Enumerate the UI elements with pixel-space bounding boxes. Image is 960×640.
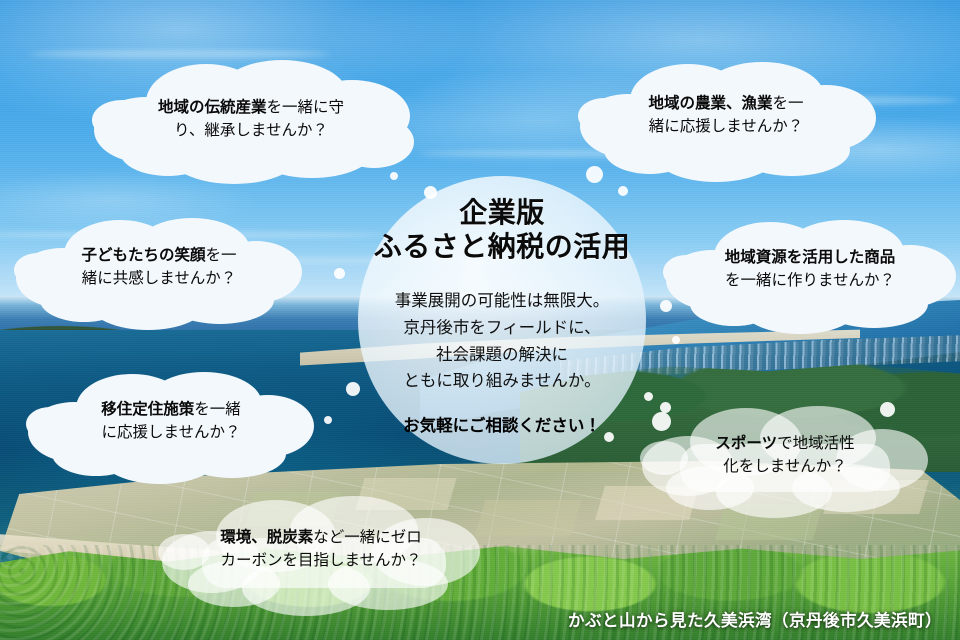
bubble-traditional-industry[interactable]: 地域の伝統産業を一緒に守 り、継承しませんか？ <box>86 58 416 176</box>
bubble-text-rest2: 化をしませんか？ <box>723 458 847 475</box>
field-patch <box>475 500 581 536</box>
bubble-agriculture-fishery[interactable]: 地域の農業、漁業を一 緒に応援しませんか？ <box>576 56 876 176</box>
bubble-text-rest1: で地域活性 <box>777 435 855 452</box>
bubble-text: スポーツで地域活性 化をしませんか？ <box>640 432 930 479</box>
bubble-text: 環境、脱炭素など一緒にゼロ カーボンを目指しませんか？ <box>156 526 486 573</box>
bubble-text: 地域の農業、漁業を一 緒に応援しませんか？ <box>576 92 876 139</box>
center-title: 企業版 ふるさと納税の活用 <box>330 196 674 264</box>
bubble-zero-carbon[interactable]: 環境、脱炭素など一緒にゼロ カーボンを目指しませんか？ <box>156 494 486 610</box>
bubble-local-resources-product[interactable]: 地域資源を活用した商品 を一緒に作りませんか？ <box>664 214 956 328</box>
bubble-text-rest2: に応援しませんか？ <box>101 424 240 441</box>
bubble-migration-settlement[interactable]: 移住定住施策を一緒 に応援しませんか？ <box>26 366 316 478</box>
bubble-text-rest2: を一緒に作りませんか？ <box>725 272 895 289</box>
center-title-line2: ふるさと納税の活用 <box>330 230 674 264</box>
poster-canvas: 地域の伝統産業を一緒に守 り、継承しませんか？ 地域の農業、漁業を一 緒に応援し… <box>0 0 960 640</box>
bubble-text-bold: 地域資源を活用した商品 <box>725 249 896 266</box>
bubble-text-rest2: 緒に応援しませんか？ <box>649 118 804 135</box>
center-body: 事業展開の可能性は無限大。 京丹後市をフィールドに、 社会課題の解決に ともに取… <box>330 288 674 395</box>
bubble-text-rest1: を一緒に守 <box>267 99 345 116</box>
decorative-bubble <box>618 186 628 196</box>
photo-caption: かぶと山から見た久美浜湾（京丹後市久美浜町） <box>568 607 942 631</box>
center-message-block: 企業版 ふるさと納税の活用 事業展開の可能性は無限大。 京丹後市をフィールドに、… <box>330 196 674 436</box>
bubble-text-rest1: を一 <box>206 247 237 264</box>
bubble-text-rest1: を一 <box>773 95 804 112</box>
center-body-line4: ともに取り組みませんか。 <box>330 368 674 395</box>
cloud-streak <box>30 50 330 58</box>
center-cta-text: お気軽にご相談ください！ <box>330 412 674 436</box>
bubble-text-rest2: り、継承しませんか？ <box>174 122 328 139</box>
bubble-text: 移住定住施策を一緒 に応援しませんか？ <box>26 398 316 445</box>
bubble-text-rest2: 緒に共感しませんか？ <box>82 270 237 287</box>
bubble-text-bold: スポーツ <box>715 435 777 452</box>
bubble-text-rest1: など一緒にゼロ <box>313 529 422 546</box>
bubble-children-smiles[interactable]: 子どもたちの笑顔を一 緒に共感しませんか？ <box>14 212 304 324</box>
bubble-text: 地域資源を活用した商品 を一緒に作りませんか？ <box>664 246 956 293</box>
bubble-text: 地域の伝統産業を一緒に守 り、継承しませんか？ <box>86 96 416 143</box>
bubble-text-bold: 地域の農業、漁業 <box>648 95 772 112</box>
center-body-line3: 社会課題の解決に <box>330 342 674 369</box>
center-body-line2: 京丹後市をフィールドに、 <box>330 315 674 342</box>
bubble-text-bold: 子どもたちの笑顔 <box>81 247 205 264</box>
bubble-text-bold: 移住定住施策 <box>101 401 194 418</box>
center-body-line1: 事業展開の可能性は無限大。 <box>330 288 674 315</box>
bubble-text-bold: 環境、脱炭素 <box>220 529 313 546</box>
bubble-text-rest1: を一緒 <box>194 401 241 418</box>
center-title-line1: 企業版 <box>330 196 674 230</box>
bubble-text-rest2: カーボンを目指しませんか？ <box>220 552 421 569</box>
bubble-sports-revitalization[interactable]: スポーツで地域活性 化をしませんか？ <box>640 400 930 512</box>
bubble-text-bold: 地域の伝統産業 <box>158 99 267 116</box>
bubble-text: 子どもたちの笑顔を一 緒に共感しませんか？ <box>14 244 304 291</box>
